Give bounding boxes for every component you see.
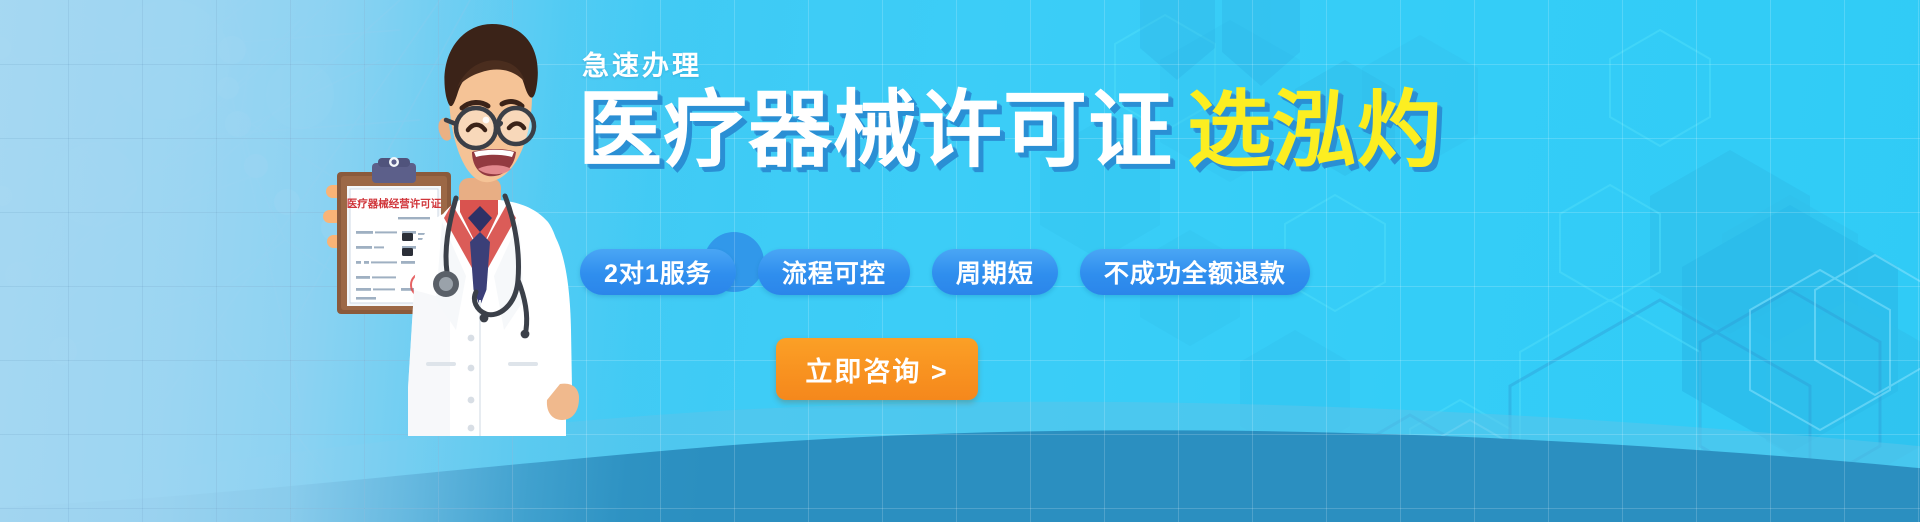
glasses-icon (446, 108, 534, 148)
feature-pill-list: 2对1服务 流程可控 周期短 不成功全额退款 (580, 249, 1310, 295)
doctor-character (408, 24, 579, 436)
banner-content: 急速办理 医疗器械许可证选泓灼 2对1服务 流程可控 周期短 不成功全额退款 立… (578, 0, 1518, 522)
feature-pill-1[interactable]: 2对1服务 (580, 249, 736, 295)
coat-sleeve-right (542, 226, 572, 404)
feature-pill-2[interactable]: 流程可控 (758, 249, 910, 295)
feature-pill-3[interactable]: 周期短 (932, 249, 1058, 295)
promo-banner: 医疗器械经营许可证 (0, 0, 1920, 522)
doctor-and-clipboard-illustration: 医疗器械经营许可证 (320, 0, 620, 522)
clipboard-document-title: 医疗器械经营许可证 (347, 197, 442, 210)
eyebrow-text: 急速办理 (582, 44, 702, 83)
hero-illustration: 医疗器械经营许可证 (320, 0, 620, 522)
feature-pill-4[interactable]: 不成功全额退款 (1080, 249, 1310, 295)
consult-now-button[interactable]: 立即咨询 > (776, 338, 978, 400)
page-title: 医疗器械许可证选泓灼 (578, 88, 1442, 172)
headline-accent: 选泓灼 (1187, 83, 1442, 177)
headline-primary: 医疗器械许可证 (578, 83, 1173, 177)
